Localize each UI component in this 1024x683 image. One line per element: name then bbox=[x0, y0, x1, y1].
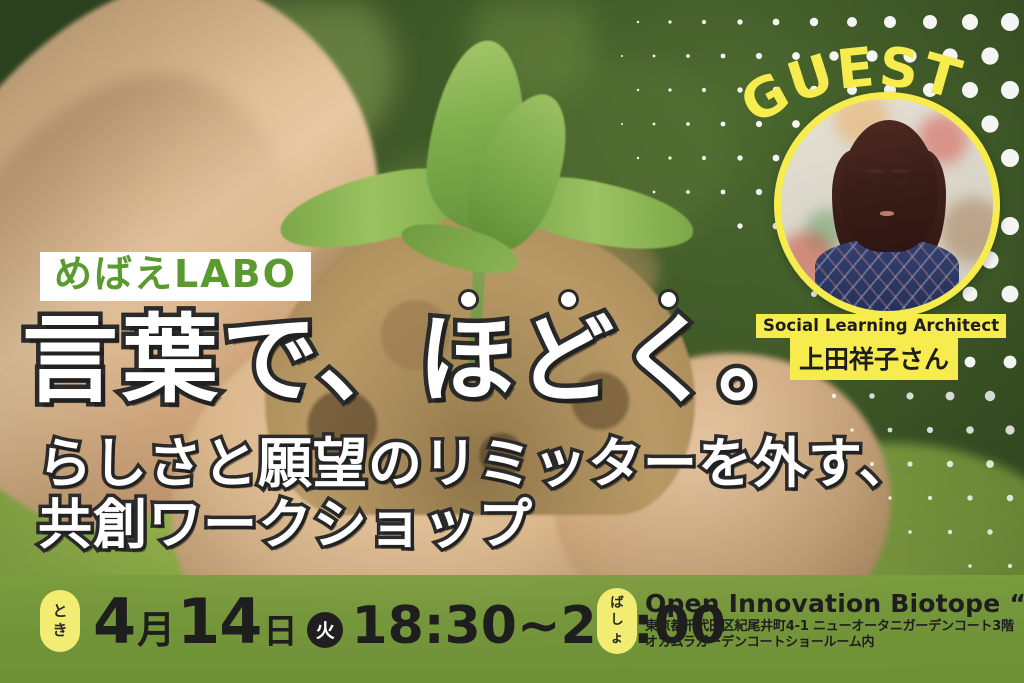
guest-role: Social Learning Architect bbox=[756, 314, 1006, 338]
event-day-number: 14 bbox=[177, 591, 261, 653]
when-pill-line-1: と bbox=[52, 602, 67, 621]
headline-emphasis-3: く bbox=[618, 312, 718, 408]
headline-emphasis-1: ほ bbox=[418, 312, 518, 408]
subtitle-line-1: らしさと願望のリミッターを外す、 bbox=[38, 437, 914, 491]
portrait-mouth bbox=[880, 211, 895, 215]
avatar bbox=[774, 92, 1000, 318]
guest-name: 上田祥子さん bbox=[790, 338, 958, 380]
brand-badge: めばえLABO bbox=[40, 252, 311, 301]
event-month-number: 4 bbox=[93, 591, 135, 653]
where-pill-line-3: ょ bbox=[610, 630, 624, 647]
guest-portrait bbox=[781, 99, 993, 311]
venue-address-line-2: オカムラガーデンコートショールーム内 bbox=[645, 635, 1024, 652]
when-pill-line-2: き bbox=[52, 621, 67, 640]
headline-emphasis-2: ど bbox=[518, 312, 618, 408]
guest-block: GUEST GUEST S bbox=[746, 56, 1006, 386]
event-month-unit: 月 bbox=[137, 611, 175, 649]
event-day-unit: 日 bbox=[263, 615, 297, 649]
page-title: 言葉で、ほどく。 bbox=[22, 312, 818, 408]
where-pill-line-1: ば bbox=[610, 595, 624, 612]
when-pill: と き bbox=[40, 590, 80, 652]
portrait-eye-left bbox=[867, 180, 883, 187]
venue-address-line-1: 東京都千代田区紀尾井町4-1 ニューオータニガーデンコート3階 bbox=[645, 619, 1024, 636]
event-poster: めばえLABO 言葉で、ほどく。 らしさと願望のリミッターを外す、 共創ワークシ… bbox=[0, 0, 1024, 683]
day-of-week-badge: 火 bbox=[307, 612, 343, 648]
venue-block: Open Innovation Biotope “Sea” 東京都千代田区紀尾井… bbox=[645, 590, 1024, 652]
venue-name: Open Innovation Biotope “Sea” bbox=[645, 590, 1024, 619]
subtitle-line-2: 共創ワークショップ bbox=[38, 498, 533, 552]
where-pill-line-2: し bbox=[610, 612, 624, 629]
where-pill: ば し ょ bbox=[597, 588, 637, 654]
headline-part-plain: 言葉で、 bbox=[22, 304, 418, 416]
